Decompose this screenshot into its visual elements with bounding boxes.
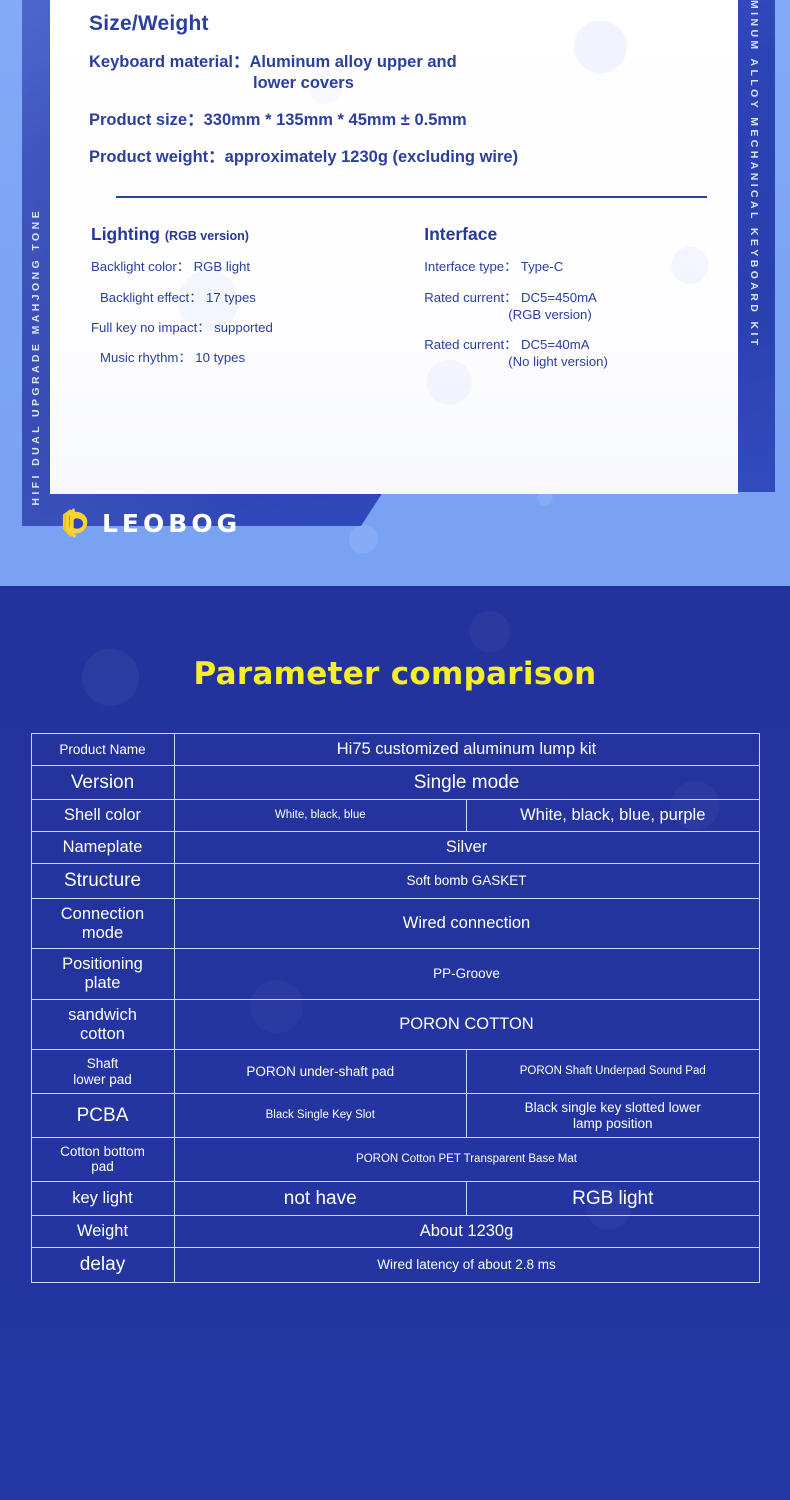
row-10-key: Cotton bottompad <box>31 1137 174 1181</box>
lighting-row-full-key-no-impact: Full key no impact： supported <box>91 319 424 336</box>
table-row: Cotton bottompadPORON Cotton PET Transpa… <box>31 1137 759 1181</box>
interface-rated-current-rgb-text: Rated current： DC5=450mA <box>424 290 597 305</box>
row-5-value: Wired connection <box>174 898 759 949</box>
row-8-value-right: PORON Shaft Underpad Sound Pad <box>467 1050 760 1094</box>
spec-section-title: Size/Weight <box>89 12 714 36</box>
lighting-heading-note: (RGB version) <box>165 229 249 243</box>
row-8-value-left: PORON under-shaft pad <box>174 1050 467 1094</box>
product-detail-page: HIFI DUAL UPGRADE MAHJONG TONE MINUM ALL… <box>0 0 790 1500</box>
right-vertical-tagline-text: MINUM ALLOY MECHANICAL KEYBOARD KIT <box>748 0 760 349</box>
row-12-value: About 1230g <box>174 1216 759 1248</box>
right-vertical-tagline: MINUM ALLOY MECHANICAL KEYBOARD KIT <box>740 0 768 506</box>
lighting-row-music-rhythm: Music rhythm： 10 types <box>91 349 424 366</box>
interface-rated-current-rgb-note: (RGB version) <box>424 306 714 323</box>
table-row: ConnectionmodeWired connection <box>31 898 759 949</box>
row-2-value-left: White, black, blue <box>174 800 467 832</box>
row-0-key: Product Name <box>31 734 174 766</box>
row-6-key: Positioningplate <box>31 949 174 1000</box>
interface-rated-current-nolight-note: (No light version) <box>424 353 714 370</box>
row-9-value-left: Black Single Key Slot <box>174 1094 467 1138</box>
brand-logo: LEOBOG <box>0 506 753 540</box>
brand-logo-text: LEOBOG <box>102 509 241 538</box>
row-9-key: PCBA <box>31 1094 174 1138</box>
row-10-value: PORON Cotton PET Transparent Base Mat <box>174 1137 759 1181</box>
row-4-value: Soft bomb GASKET <box>174 864 759 899</box>
row-9-value-right: Black single key slotted lowerlamp posit… <box>467 1094 760 1138</box>
interface-column: Interface Interface type： Type-C Rated c… <box>424 224 714 370</box>
table-row: StructureSoft bomb GASKET <box>31 864 759 899</box>
row-11-key: key light <box>31 1181 174 1216</box>
row-11-value-left: not have <box>174 1181 467 1216</box>
row-11-value-right: RGB light <box>467 1181 760 1216</box>
table-row: key lightnot haveRGB light <box>31 1181 759 1216</box>
spec-row-product-weight: Product weight：approximately 1230g (excl… <box>89 147 714 168</box>
spec-row-product-size: Product size：330mm * 135mm * 45mm ± 0.5m… <box>89 110 714 131</box>
interface-row-rated-current-nolight: Rated current： DC5=40mA (No light versio… <box>424 336 714 370</box>
spec-label-keyboard-material: Keyboard material： <box>89 53 249 71</box>
row-8-key: Shaftlower pad <box>31 1050 174 1094</box>
table-row: PCBABlack Single Key SlotBlack single ke… <box>31 1094 759 1138</box>
spec-value-product-weight: approximately 1230g (excluding wire) <box>225 148 518 166</box>
interface-heading: Interface <box>424 224 714 245</box>
row-13-value: Wired latency of about 2.8 ms <box>174 1248 759 1283</box>
table-row: VersionSingle mode <box>31 765 759 800</box>
lighting-heading: Lighting (RGB version) <box>91 224 424 245</box>
row-13-key: delay <box>31 1248 174 1283</box>
row-4-key: Structure <box>31 864 174 899</box>
row-3-value: Silver <box>174 832 759 864</box>
table-row: NameplateSilver <box>31 832 759 864</box>
table-row: PositioningplatePP-Groove <box>31 949 759 1000</box>
table-row: WeightAbout 1230g <box>31 1216 759 1248</box>
comparison-title: Parameter comparison <box>0 586 790 692</box>
spec-row-keyboard-material: Keyboard material：Aluminum alloy upper a… <box>89 52 714 94</box>
comparison-table-body: Product NameHi75 customized aluminum lum… <box>31 734 759 1283</box>
table-row: Shaftlower padPORON under-shaft padPORON… <box>31 1050 759 1094</box>
row-2-value-right: White, black, blue, purple <box>467 800 760 832</box>
lighting-row-backlight-effect: Backlight effect： 17 types <box>91 289 424 306</box>
table-row: Product NameHi75 customized aluminum lum… <box>31 734 759 766</box>
interface-rated-current-nolight-text: Rated current： DC5=40mA <box>424 337 589 352</box>
row-2-key: Shell color <box>31 800 174 832</box>
table-row: delayWired latency of about 2.8 ms <box>31 1248 759 1283</box>
spec-value-keyboard-material: Aluminum alloy upper and <box>249 53 456 71</box>
interface-row-type: Interface type： Type-C <box>424 258 714 275</box>
row-5-key: Connectionmode <box>31 898 174 949</box>
spec-card-section: HIFI DUAL UPGRADE MAHJONG TONE MINUM ALL… <box>0 0 790 586</box>
spec-white-panel: Size/Weight Keyboard material：Aluminum a… <box>50 0 738 494</box>
row-0-value: Hi75 customized aluminum lump kit <box>174 734 759 766</box>
spec-value-product-size: 330mm * 135mm * 45mm ± 0.5mm <box>204 111 467 129</box>
table-row: sandwichcottonPORON COTTON <box>31 999 759 1050</box>
row-7-key: sandwichcotton <box>31 999 174 1050</box>
parameter-comparison-section: Parameter comparison Product NameHi75 cu… <box>0 586 790 1500</box>
left-vertical-tagline-text: HIFI DUAL UPGRADE MAHJONG TONE <box>30 204 42 506</box>
spec-label-product-size: Product size： <box>89 111 204 129</box>
parameter-comparison-table: Product NameHi75 customized aluminum lum… <box>31 733 760 1283</box>
table-row: Shell colorWhite, black, blueWhite, blac… <box>31 800 759 832</box>
row-3-key: Nameplate <box>31 832 174 864</box>
leobog-flame-icon <box>61 508 91 539</box>
section-divider <box>116 196 707 198</box>
spec-value-keyboard-material-line2: lower covers <box>89 73 714 94</box>
row-12-key: Weight <box>31 1216 174 1248</box>
row-1-value: Single mode <box>174 765 759 800</box>
lighting-heading-text: Lighting <box>91 224 160 244</box>
row-7-value: PORON COTTON <box>174 999 759 1050</box>
lighting-column: Lighting (RGB version) Backlight color： … <box>91 224 424 370</box>
interface-row-rated-current-rgb: Rated current： DC5=450mA (RGB version) <box>424 289 714 323</box>
row-6-value: PP-Groove <box>174 949 759 1000</box>
row-1-key: Version <box>31 765 174 800</box>
left-vertical-tagline: HIFI DUAL UPGRADE MAHJONG TONE <box>22 0 50 506</box>
spec-label-product-weight: Product weight： <box>89 148 225 166</box>
lighting-row-backlight-color: Backlight color： RGB light <box>91 258 424 275</box>
spec-two-column-area: Lighting (RGB version) Backlight color： … <box>89 224 714 370</box>
